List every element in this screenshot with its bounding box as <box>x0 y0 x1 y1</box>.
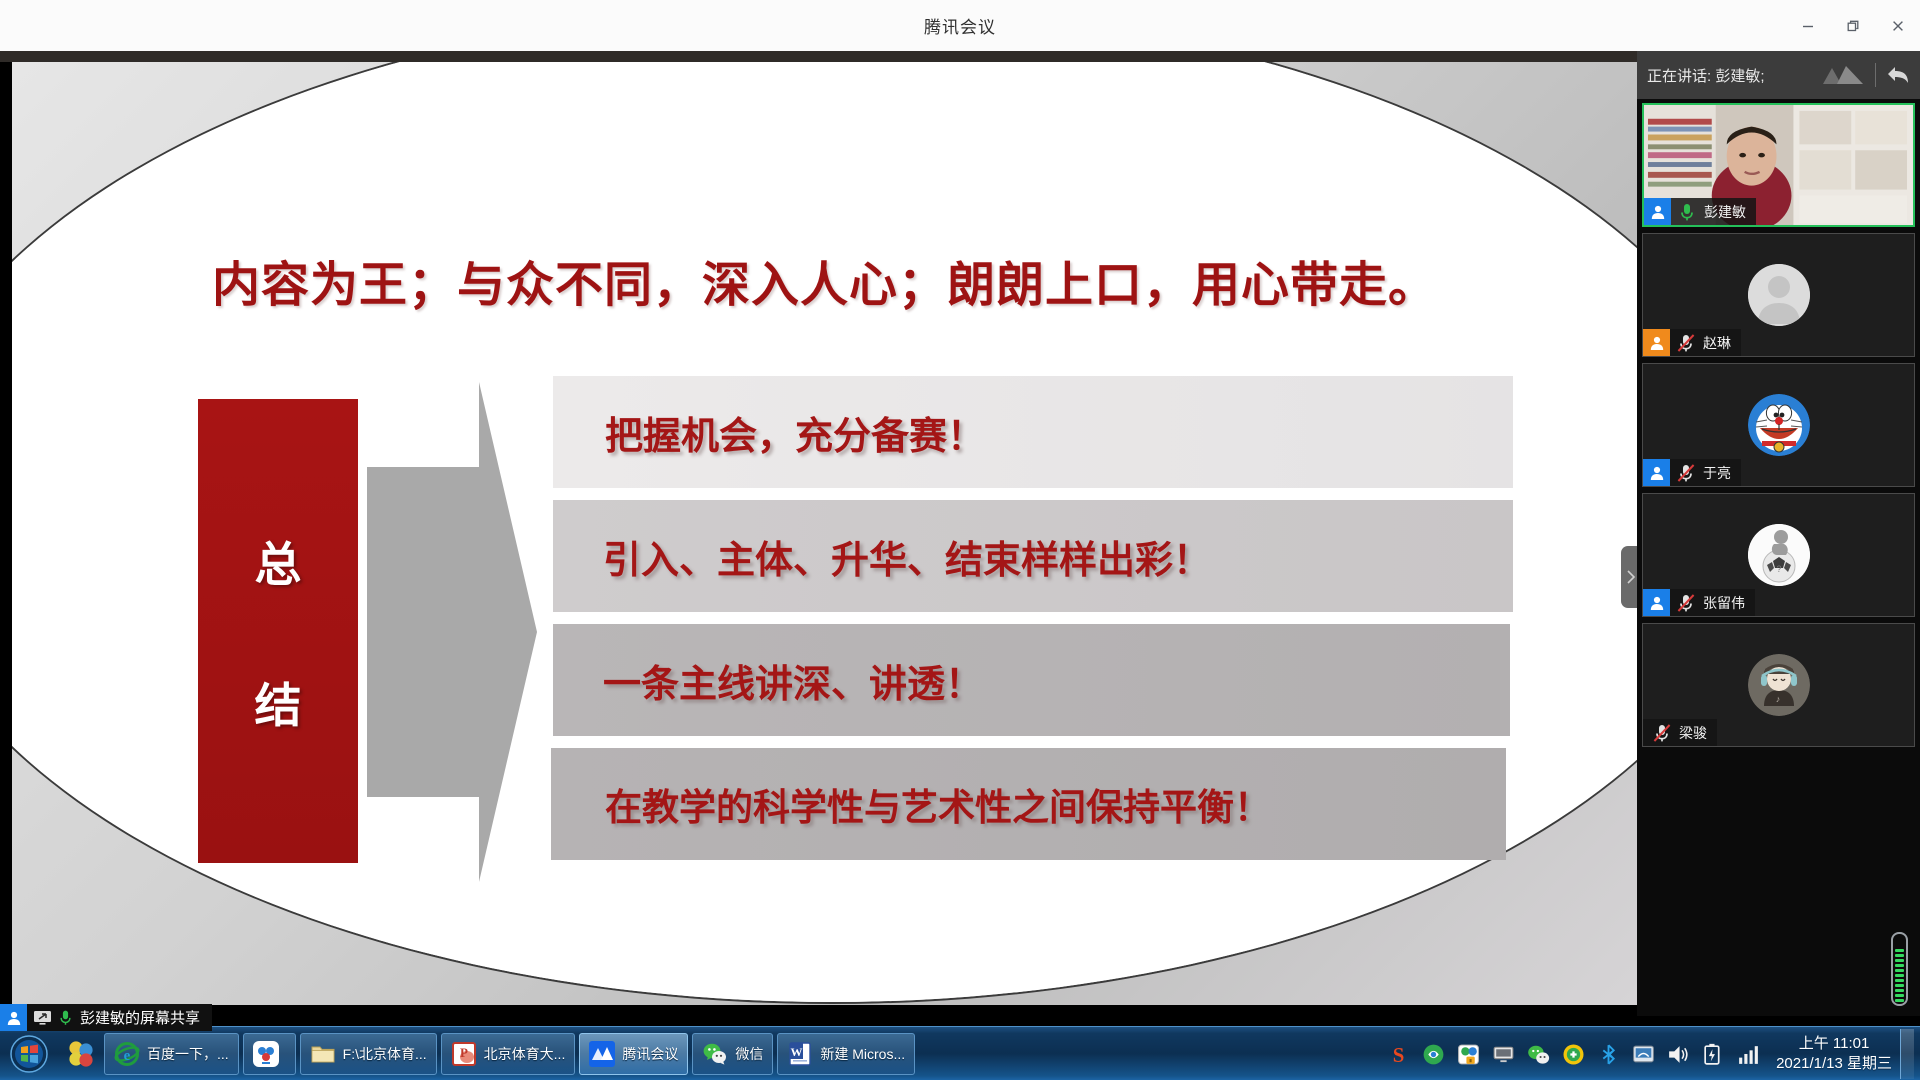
window-controls <box>1785 0 1920 51</box>
shared-slide[interactable]: 内容为王；与众不同，深入人心；朗朗上口，用心带走。 总 结 把握机会，充分备赛！… <box>12 62 1637 1005</box>
tencent-meeting-icon <box>589 1041 615 1067</box>
participant-name: 于亮 <box>1703 463 1731 483</box>
chevron-right-icon <box>1626 569 1636 585</box>
taskbar-button-word[interactable]: W 新建 Micros... <box>777 1033 915 1075</box>
show-desktop-button[interactable] <box>1900 1029 1914 1079</box>
tencent-meeting-logo-icon <box>1821 65 1865 85</box>
system-tray: S <box>1381 1027 1920 1080</box>
mic-off-icon <box>1675 332 1697 354</box>
summary-char-1: 总 <box>255 526 302 595</box>
slide-bars: 把握机会，充分备赛！ 引入、主体、升华、结束样样出彩！ 一条主线讲深、讲透！ 在… <box>553 376 1513 872</box>
svg-text:?: ? <box>1776 564 1781 574</box>
meeting-stage: 内容为王；与众不同，深入人心；朗朗上口，用心带走。 总 结 把握机会，充分备赛！… <box>0 51 1920 1016</box>
slide-headline: 内容为王；与众不同，深入人心；朗朗上口，用心带走。 <box>12 245 1637 315</box>
football-figure-avatar-icon: ? <box>1748 524 1810 586</box>
participant-tile[interactable]: ? <box>1642 493 1915 617</box>
doraemon-avatar-icon <box>1748 394 1810 456</box>
taskbar-button-explorer[interactable]: F:\北京体育... <box>300 1033 437 1075</box>
slide-bar: 引入、主体、升华、结束样样出彩！ <box>553 500 1513 612</box>
svg-text:♪: ♪ <box>1775 694 1780 704</box>
powerpoint-icon: P <box>451 1041 477 1067</box>
mic-off-icon <box>1675 462 1697 484</box>
volume-icon[interactable] <box>1666 1042 1691 1067</box>
alipay-icon[interactable] <box>1561 1042 1586 1067</box>
participants-sidebar: 正在讲话: 彭建敏; <box>1637 51 1920 1016</box>
share-user-badge-icon <box>0 1004 27 1031</box>
bluetooth-icon[interactable] <box>1596 1042 1621 1067</box>
folder-icon <box>310 1041 336 1067</box>
meeting-window: 腾讯会议 内容为王；与众不同，深入人心；朗朗上口，用心带走。 总 结 <box>0 0 1920 1080</box>
participant-badge-icon <box>1643 329 1670 356</box>
header-divider <box>1875 63 1876 87</box>
svg-text:W: W <box>791 1045 803 1059</box>
mic-on-icon <box>56 1007 75 1028</box>
speaking-header: 正在讲话: 彭建敏; <box>1637 51 1920 99</box>
participant-tile[interactable]: 赵琳 <box>1642 233 1915 357</box>
title-bar: 腾讯会议 <box>0 0 1920 51</box>
slide-bar-text: 一条主线讲深、讲透！ <box>553 653 983 708</box>
minimize-button[interactable] <box>1785 0 1830 51</box>
audio-level-meter <box>1891 932 1908 1006</box>
start-button[interactable] <box>0 1029 58 1079</box>
battery-icon[interactable] <box>1701 1042 1726 1067</box>
speaking-label: 正在讲话: 彭建敏; <box>1647 65 1821 86</box>
slide-bar-text: 把握机会，充分备赛！ <box>553 405 985 460</box>
signal-icon[interactable] <box>1736 1042 1761 1067</box>
participant-name: 彭建敏 <box>1704 202 1746 222</box>
monitor-icon[interactable] <box>1491 1042 1516 1067</box>
mic-on-icon <box>1676 201 1698 223</box>
svg-text:P: P <box>460 1045 468 1060</box>
taskbar-button-label: 北京体育大... <box>484 1044 566 1064</box>
360-browser-icon[interactable] <box>1421 1042 1446 1067</box>
360-safe-icon[interactable] <box>1456 1042 1481 1067</box>
participant-tile[interactable]: ♪ 梁骏 <box>1642 623 1915 747</box>
share-top-strip <box>0 51 1637 62</box>
slide-bar: 一条主线讲深、讲透！ <box>553 624 1510 736</box>
sogou-input-icon[interactable]: S <box>1386 1042 1411 1067</box>
default-person-icon <box>1748 264 1810 326</box>
taskbar-button-wechat[interactable]: 微信 <box>692 1033 773 1075</box>
taskbar-button-label: 新建 Micros... <box>820 1044 905 1064</box>
taskbar-button-netdisk[interactable] <box>243 1033 296 1075</box>
slide-bar-text: 引入、主体、升华、结束样样出彩！ <box>553 529 1211 584</box>
taskbar-button-label: 微信 <box>735 1044 763 1064</box>
participant-badge-icon <box>1643 459 1670 486</box>
restore-button[interactable] <box>1830 0 1875 51</box>
network-share-icon[interactable] <box>1631 1042 1656 1067</box>
word-icon: W <box>787 1041 813 1067</box>
clock-time: 上午 11:01 <box>1776 1034 1892 1054</box>
screen-share-label: 彭建敏的屏幕共享 <box>80 1007 200 1028</box>
participant-tile[interactable]: 于亮 <box>1642 363 1915 487</box>
window-title: 腾讯会议 <box>924 13 996 38</box>
participant-badge-icon <box>1643 589 1670 616</box>
wechat-tray-icon[interactable] <box>1526 1042 1551 1067</box>
arrow-shape <box>367 382 537 882</box>
baidu-netdisk-icon <box>253 1041 279 1067</box>
participant-tile-active[interactable]: 彭建敏 <box>1642 103 1915 227</box>
taskbar-clock[interactable]: 上午 11:01 2021/1/13 星期三 <box>1776 1034 1892 1074</box>
slide-bar: 把握机会，充分备赛！ <box>553 376 1513 488</box>
taskbar-button-label: F:\北京体育... <box>343 1044 427 1064</box>
participant-name: 梁骏 <box>1679 723 1707 743</box>
slide-summary-label: 总 结 <box>198 399 358 863</box>
participant-namebar: 梁骏 <box>1643 719 1717 746</box>
internet-explorer-icon: e <box>114 1041 140 1067</box>
taskbar-button-powerpoint[interactable]: P 北京体育大... <box>441 1033 576 1075</box>
taskbar-button-label: 腾讯会议 <box>622 1044 678 1064</box>
participant-namebar: 张留伟 <box>1643 589 1755 616</box>
quick-launch-sogou[interactable] <box>58 1029 104 1079</box>
headphones-boy-avatar-icon: ♪ <box>1748 654 1810 716</box>
participant-namebar: 彭建敏 <box>1644 198 1756 225</box>
summary-char-2: 结 <box>255 667 302 736</box>
participant-name: 赵琳 <box>1703 333 1731 353</box>
taskbar-button-label: 百度一下，... <box>147 1044 229 1064</box>
participant-namebar: 赵琳 <box>1643 329 1741 356</box>
screen-share-icon <box>32 1007 53 1028</box>
mic-off-icon <box>1675 592 1697 614</box>
participant-badge-icon <box>1644 198 1671 225</box>
svg-text:e: e <box>124 1048 131 1064</box>
taskbar-button-ie[interactable]: e 百度一下，... <box>104 1033 239 1075</box>
clock-date: 2021/1/13 星期三 <box>1776 1054 1892 1074</box>
slide-bar: 在教学的科学性与艺术性之间保持平衡！ <box>551 748 1506 860</box>
wechat-icon <box>702 1041 728 1067</box>
participant-tiles: 彭建敏 <box>1637 99 1920 1016</box>
back-arrow-icon[interactable] <box>1886 64 1910 86</box>
participant-name: 张留伟 <box>1703 593 1745 613</box>
participant-namebar: 于亮 <box>1643 459 1741 486</box>
close-button[interactable] <box>1875 0 1920 51</box>
mic-off-icon <box>1651 722 1673 744</box>
svg-text:S: S <box>1393 1042 1405 1066</box>
taskbar-button-tencent-meeting[interactable]: 腾讯会议 <box>579 1033 688 1075</box>
slide-bar-text: 在教学的科学性与艺术性之间保持平衡！ <box>551 777 1271 831</box>
windows-taskbar: e 百度一下，... F:\北京体育... <box>0 1026 1920 1080</box>
screen-share-banner: 彭建敏的屏幕共享 <box>0 1004 212 1031</box>
